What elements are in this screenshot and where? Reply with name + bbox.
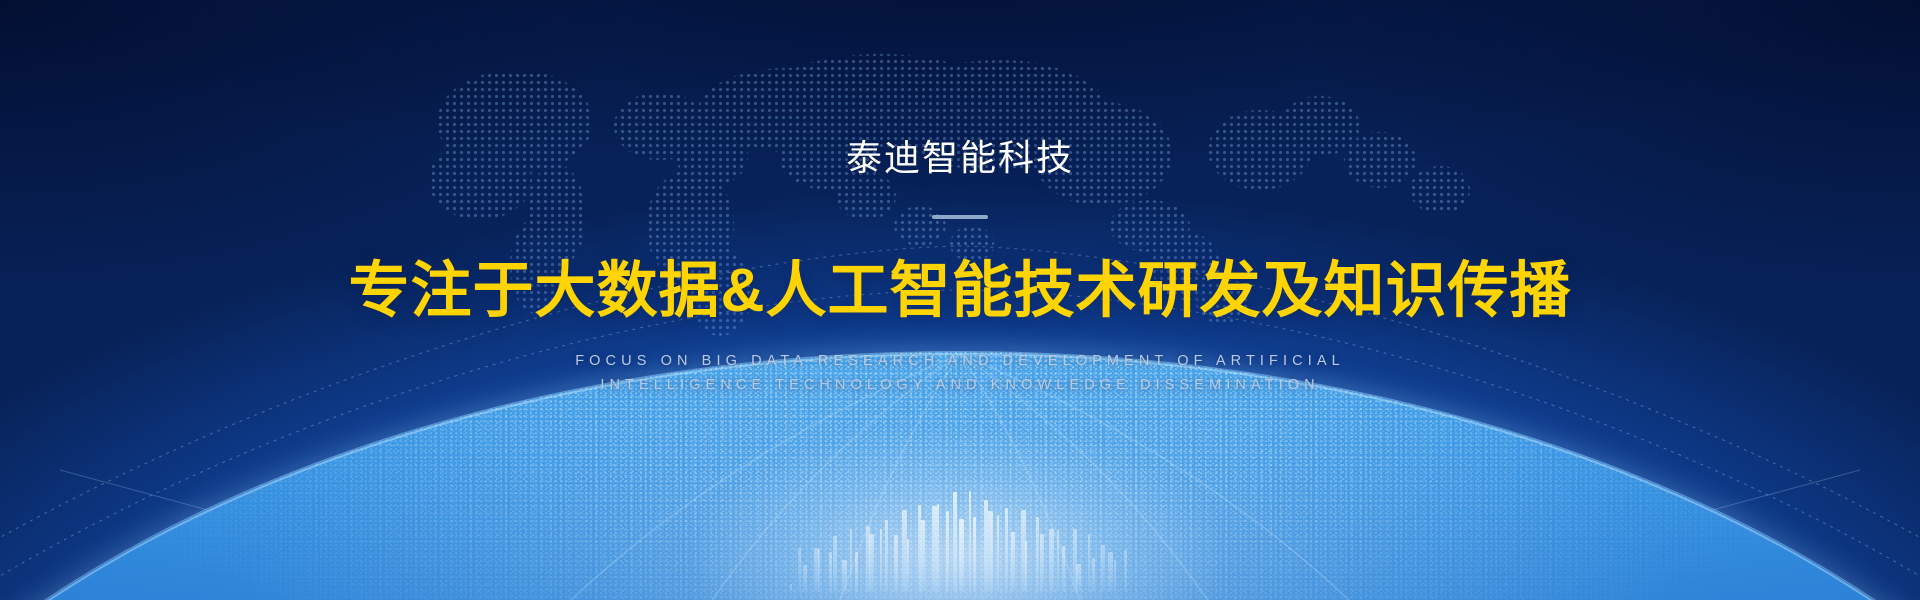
hero-banner: 泰迪智能科技 专注于大数据&人工智能技术研发及知识传播 FOCUS ON BIG… <box>0 0 1920 600</box>
banner-content: 泰迪智能科技 专注于大数据&人工智能技术研发及知识传播 FOCUS ON BIG… <box>0 0 1920 600</box>
subtitle-line-1: FOCUS ON BIG DATA-RESEARCH AND DEVELOPME… <box>575 349 1345 373</box>
subtitle-english: FOCUS ON BIG DATA-RESEARCH AND DEVELOPME… <box>575 349 1345 397</box>
headline-slogan: 专注于大数据&人工智能技术研发及知识传播 <box>348 260 1571 321</box>
subtitle-line-2: INTELLIGENCE TECHNOLOGY AND KNOWLEDGE DI… <box>575 373 1345 397</box>
title-divider <box>932 215 988 219</box>
company-name: 泰迪智能科技 <box>846 140 1074 176</box>
